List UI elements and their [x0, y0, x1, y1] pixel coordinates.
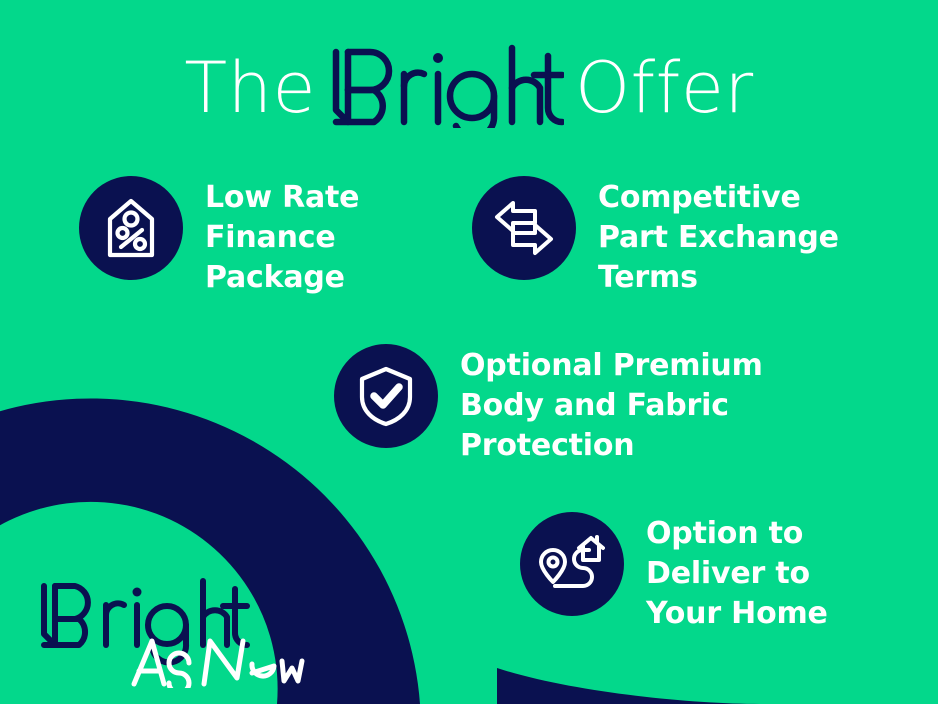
delivery-route-home-icon — [539, 534, 605, 594]
wedge-shape — [497, 668, 760, 704]
feature-item-part-exchange: Competitive Part Exchange Terms — [472, 176, 839, 298]
brand-secondary-wordmark — [134, 641, 302, 688]
brand-logo-lockup — [36, 578, 306, 688]
title-prefix: The — [184, 47, 316, 129]
feature-icon-badge — [334, 344, 438, 448]
bright-offer-poster: The — [0, 0, 938, 704]
feature-label: Optional Premium Body and Fabric Protect… — [460, 344, 763, 466]
title-brand-logo — [326, 44, 564, 132]
price-tag-percent-icon — [102, 197, 160, 259]
feature-label: Competitive Part Exchange Terms — [598, 176, 839, 298]
feature-label: Low Rate Finance Package — [205, 176, 359, 298]
feature-icon-badge — [79, 176, 183, 280]
page-title: The — [0, 44, 938, 132]
feature-icon-badge — [520, 512, 624, 616]
feature-label: Option to Deliver to Your Home — [646, 512, 828, 634]
feature-item-home-delivery: Option to Deliver to Your Home — [520, 512, 828, 634]
exchange-arrows-icon — [493, 199, 555, 257]
shield-check-icon — [357, 365, 415, 427]
feature-item-body-fabric-protection: Optional Premium Body and Fabric Protect… — [334, 344, 763, 466]
feature-icon-badge — [472, 176, 576, 280]
feature-item-low-rate-finance: Low Rate Finance Package — [79, 176, 359, 298]
title-suffix: Offer — [575, 47, 754, 129]
